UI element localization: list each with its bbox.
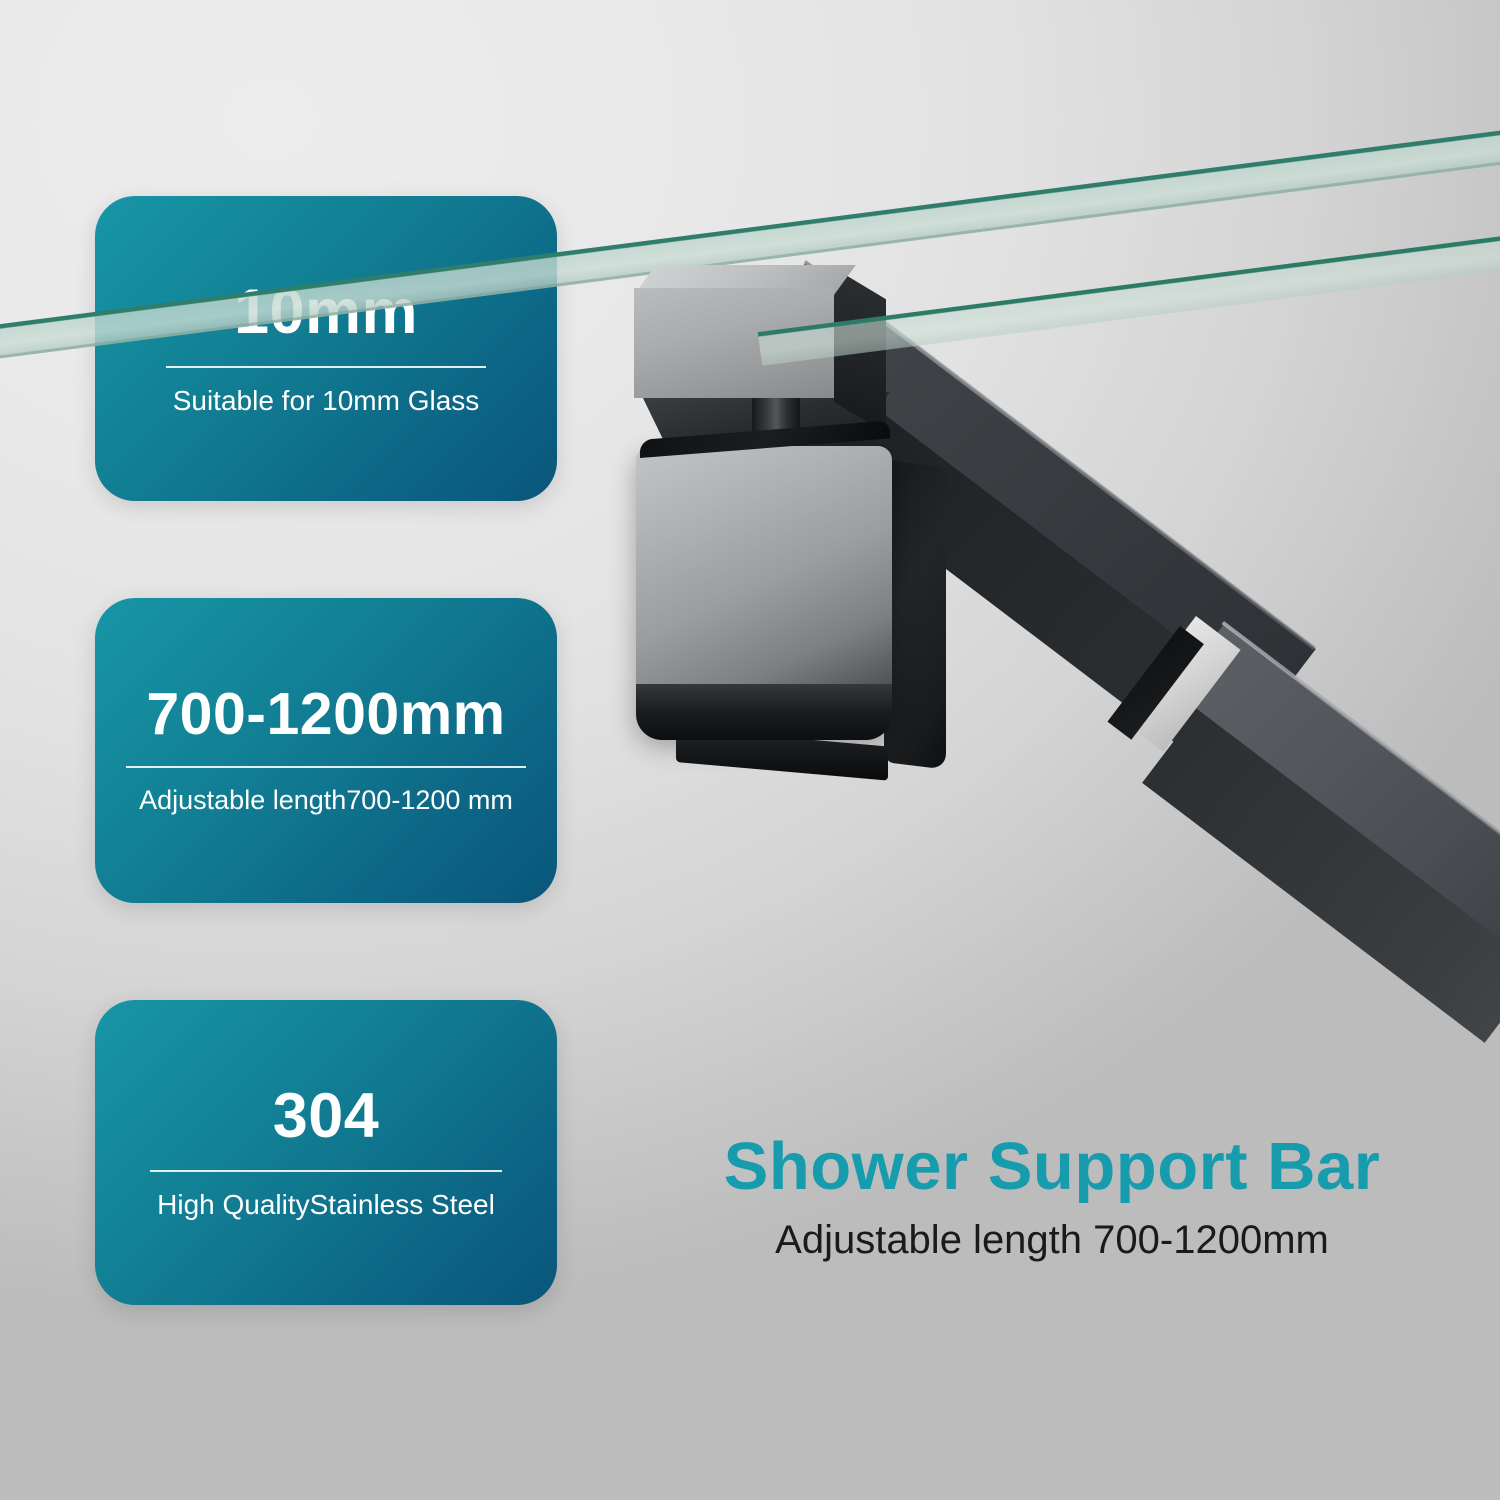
feature-card-description: High QualityStainless Steel	[157, 1190, 495, 1221]
pivot-post	[752, 372, 800, 468]
support-bar-upper-top-face	[761, 262, 1316, 708]
glass-panel-foreground	[758, 227, 1500, 366]
ceiling-mount-top-face	[634, 265, 856, 295]
feature-card-value: 304	[273, 1085, 380, 1148]
support-bar-upper-front-face	[732, 330, 1300, 793]
feature-card-material-grade: 304 High QualityStainless Steel	[95, 1000, 557, 1305]
support-bar-lower-highlight-edge	[1222, 621, 1500, 878]
ceiling-mount-underside	[640, 392, 890, 464]
support-bar-lower-top-face	[1173, 624, 1500, 945]
infographic-canvas: 10mm Suitable for 10mm Glass 700-1200mm …	[0, 0, 1500, 1500]
feature-card-divider	[166, 366, 486, 368]
glass-clamp-back-plate	[884, 460, 946, 770]
product-subtitle: Adjustable length 700-1200mm	[672, 1218, 1432, 1262]
feature-card-description: Adjustable length700-1200 mm	[139, 786, 513, 816]
product-title: Shower Support Bar	[672, 1132, 1432, 1202]
feature-card-divider	[126, 766, 526, 768]
glass-clamp-foot-tab	[676, 728, 888, 781]
feature-card-glass-thickness: 10mm Suitable for 10mm Glass	[95, 196, 557, 501]
title-block: Shower Support Bar Adjustable length 700…	[672, 1132, 1432, 1262]
support-bar-upper-highlight-edge	[804, 260, 1316, 650]
telescoping-joint-shadow	[1107, 626, 1203, 740]
ceiling-mount-side-face	[834, 268, 886, 433]
feature-card-description: Suitable for 10mm Glass	[173, 386, 480, 417]
telescoping-joint-collar	[1119, 616, 1241, 752]
glass-clamp-bottom-bevel	[636, 684, 892, 740]
feature-card-value: 10mm	[234, 281, 418, 344]
feature-card-value: 700-1200mm	[146, 685, 505, 744]
feature-card-adjustable-length: 700-1200mm Adjustable length700-1200 mm	[95, 598, 557, 903]
support-bar-lower-front-face	[1142, 700, 1500, 1043]
feature-card-divider	[150, 1170, 502, 1172]
glass-clamp-body	[636, 446, 892, 736]
glass-clamp-top-lip	[640, 420, 890, 458]
ceiling-mount-block	[634, 288, 834, 398]
